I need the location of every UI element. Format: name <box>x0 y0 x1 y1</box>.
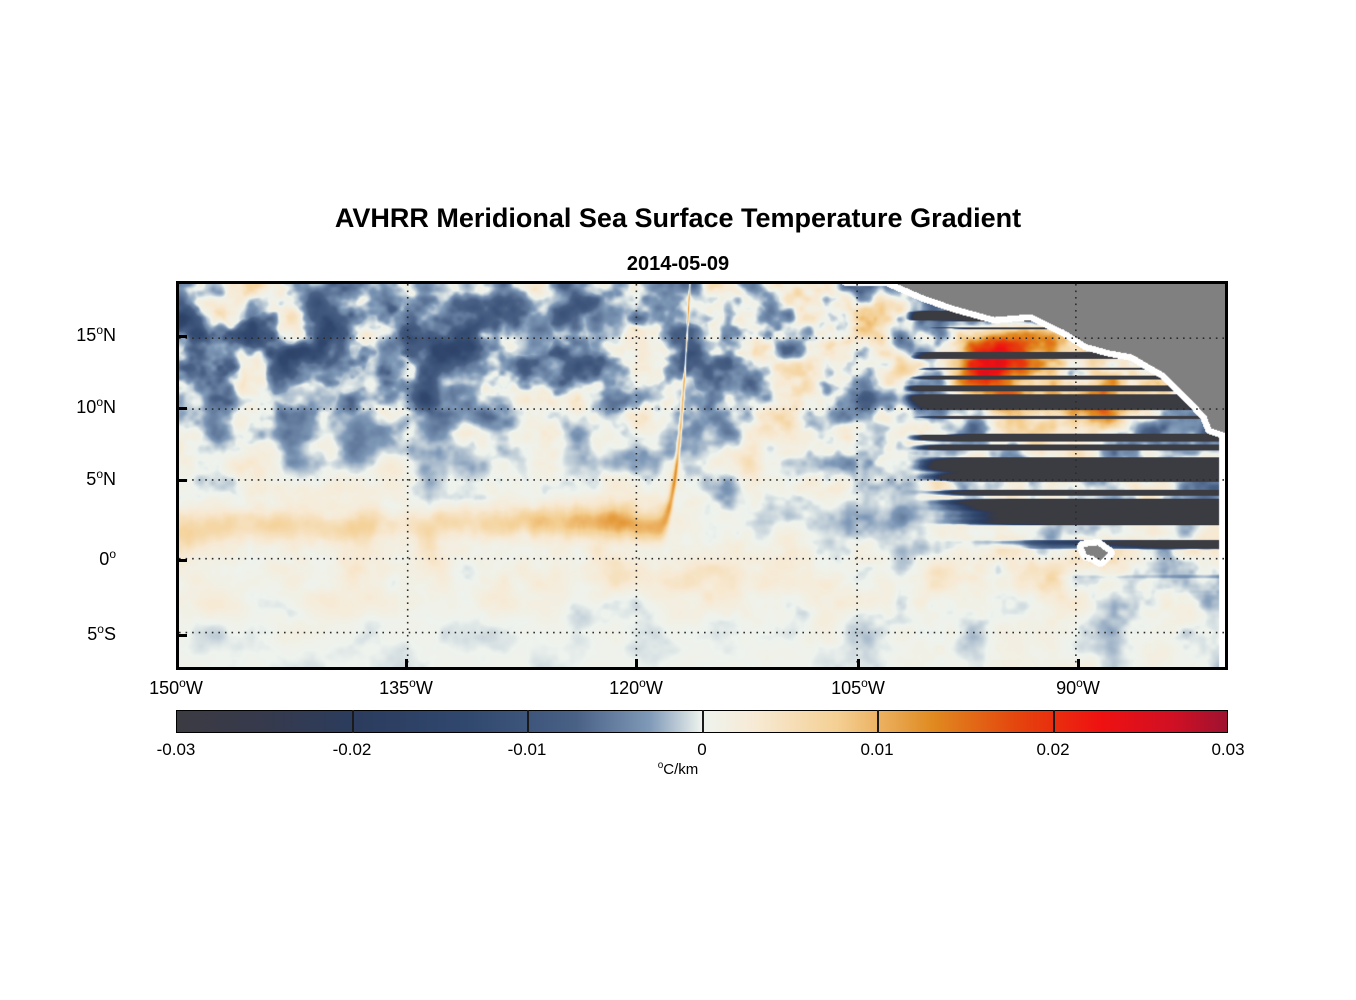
y-tick-value: 10 <box>76 397 96 417</box>
x-tick-value: 150 <box>149 678 179 698</box>
colorbar-tick-label: -0.01 <box>457 740 597 760</box>
colorbar-tick-mark <box>1053 710 1055 733</box>
x-tick-hemisphere: W <box>186 678 203 698</box>
degree-symbol: o <box>179 676 186 690</box>
y-tick-value: 15 <box>76 325 96 345</box>
x-axis-tick-label: 150oW <box>96 676 256 699</box>
x-tick-value: 135 <box>379 678 409 698</box>
degree-symbol: o <box>639 676 646 690</box>
y-tick-hemisphere: N <box>103 397 116 417</box>
map-axes[interactable] <box>176 281 1228 670</box>
x-tick-hemisphere: W <box>868 678 885 698</box>
page-title: AVHRR Meridional Sea Surface Temperature… <box>0 203 1356 234</box>
degree-symbol: o <box>97 622 104 636</box>
y-axis-tick-label: 10oN <box>0 395 116 418</box>
y-axis-tick-label: 15oN <box>0 323 116 346</box>
colorbar-unit-label: oC/km <box>0 760 1356 778</box>
colorbar-tick-label: -0.03 <box>106 740 246 760</box>
colorbar-tick-label: 0 <box>632 740 772 760</box>
figure-subtitle: 2014-05-09 <box>0 253 1356 276</box>
y-tick-value: 5 <box>86 469 96 489</box>
x-axis-tick-mark <box>1077 659 1080 670</box>
y-tick-hemisphere: N <box>103 325 116 345</box>
y-axis-tick-label: 5oN <box>0 467 116 490</box>
y-axis-tick-mark <box>176 407 187 410</box>
degree-symbol: o <box>96 323 103 337</box>
colorbar-tick-mark <box>877 710 879 733</box>
y-axis-tick-mark <box>176 559 187 562</box>
x-axis-tick-mark <box>857 659 860 670</box>
colorbar-tick-label: -0.02 <box>282 740 422 760</box>
colorbar-tick-label: 0.01 <box>807 740 947 760</box>
x-axis-tick-mark <box>405 659 408 670</box>
y-axis-tick-mark <box>176 335 187 338</box>
x-axis-tick-label: 105oW <box>778 676 938 699</box>
degree-symbol: o <box>1076 676 1083 690</box>
x-axis-tick-label: 135oW <box>326 676 486 699</box>
y-tick-hemisphere: S <box>104 624 116 644</box>
colorbar-tick-label: 0.02 <box>983 740 1123 760</box>
y-axis-tick-label: 0o <box>0 547 116 570</box>
y-axis-tick-label: 5oS <box>0 622 116 645</box>
degree-symbol: o <box>409 676 416 690</box>
degree-symbol: o <box>109 547 116 561</box>
x-tick-value: 120 <box>609 678 639 698</box>
x-tick-value: 90 <box>1056 678 1076 698</box>
x-tick-hemisphere: W <box>416 678 433 698</box>
colorbar-tick-mark <box>352 710 354 733</box>
x-tick-hemisphere: W <box>646 678 663 698</box>
x-axis-tick-mark <box>635 659 638 670</box>
degree-symbol: o <box>861 676 868 690</box>
colorbar-tick-mark <box>702 710 704 733</box>
sst-gradient-heatmap <box>179 284 1225 667</box>
colorbar-unit-text: C/km <box>663 761 698 778</box>
x-tick-value: 105 <box>831 678 861 698</box>
degree-symbol: o <box>96 395 103 409</box>
x-tick-hemisphere: W <box>1083 678 1100 698</box>
y-axis-tick-mark <box>176 634 187 637</box>
y-tick-value: 0 <box>99 549 109 569</box>
y-tick-hemisphere: N <box>103 469 116 489</box>
colorbar-tick-label: 0.03 <box>1158 740 1298 760</box>
y-tick-value: 5 <box>87 624 97 644</box>
x-axis-tick-label: 120oW <box>556 676 716 699</box>
colorbar-tick-mark <box>527 710 529 733</box>
degree-symbol: o <box>96 467 103 481</box>
y-axis-tick-mark <box>176 479 187 482</box>
x-axis-tick-label: 90oW <box>998 676 1158 699</box>
figure-root: AVHRR Meridional Sea Surface Temperature… <box>0 0 1356 1000</box>
